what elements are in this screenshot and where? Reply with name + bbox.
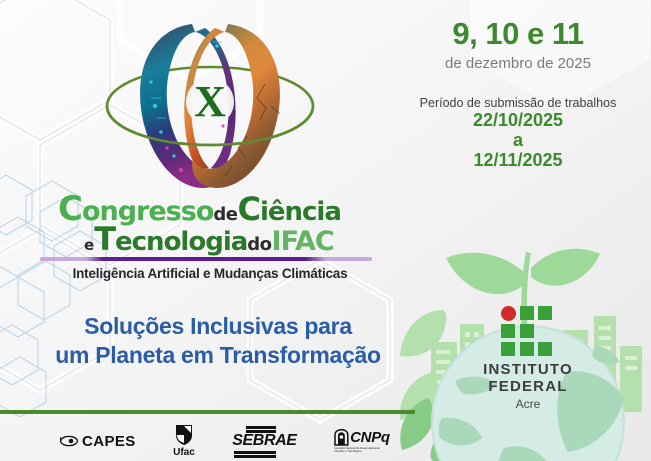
title-word-congresso-initial: C [58, 189, 82, 229]
if-logo-red-dot [501, 306, 516, 321]
if-logo-cell [520, 324, 534, 338]
if-logo-cell [538, 342, 552, 356]
sponsor-label-capes: CAPES [82, 433, 136, 450]
title-line-2: eTecnologiadoIFAC [58, 223, 388, 255]
if-campus-name: Acre [468, 397, 588, 411]
title-word-do: do [247, 234, 271, 255]
congress-title: CCongressoongressodeCiência eTecnologiad… [58, 192, 388, 255]
sponsor-logo-sebrae: SEBRAE [232, 432, 296, 450]
sponsor-sublabel-cnpq: Conselho Nacional de Desenvolvimento Cie… [334, 447, 390, 454]
if-logo-cell [538, 306, 552, 320]
sponsor-logo-row: CAPES Ufac SEBRAE [60, 424, 390, 458]
if-name-line-2: FEDERAL [468, 379, 588, 396]
sponsor-logo-capes: CAPES [60, 433, 136, 450]
event-days: 9, 10 e 11 [392, 18, 644, 51]
submission-start-date: 22/10/2025 [392, 110, 644, 130]
cnpq-emblem-icon [334, 429, 349, 446]
submission-end-date: 12/11/2025 [392, 150, 644, 170]
sponsor-logo-cnpq: CNPq Conselho Nacional de Desenvolviment… [334, 429, 390, 454]
sponsor-logo-ufac: Ufac [173, 424, 195, 458]
if-logo-cell [501, 342, 515, 356]
capes-eye-icon [60, 434, 80, 448]
green-divider [0, 410, 415, 414]
congress-subtitle: Inteligência Artificial e Mudanças Climá… [40, 266, 380, 281]
title-word-tecnologia-rest: ecnologia [115, 227, 247, 257]
sponsor-label-cnpq: CNPq [350, 429, 390, 446]
slogan-line-2: um Planeta em Transformação [18, 341, 418, 370]
purple-divider [40, 257, 372, 261]
edition-numeral: X [194, 77, 226, 126]
submission-connector: a [392, 130, 644, 150]
title-word-de: de [213, 204, 237, 225]
if-logo-cell [520, 342, 534, 356]
event-poster: X CCongressoongressodeCiência eTecnologi… [0, 0, 651, 461]
if-logo-mark [501, 306, 556, 356]
sponsor-label-sebrae: SEBRAE [232, 432, 296, 450]
if-name-line-1: INSTITUTO [468, 362, 588, 379]
submission-period-label: Período de submissão de trabalhos [392, 96, 644, 110]
title-word-ifac: IFAC [272, 226, 334, 257]
title-word-tecnologia-initial: T [94, 220, 115, 258]
event-month-year: de dezembro de 2025 [392, 55, 644, 72]
if-logo-cell [501, 324, 515, 338]
slogan-line-1: Soluções Inclusivas para [18, 312, 418, 341]
title-word-e: e [84, 236, 94, 254]
if-logo-cell [520, 306, 534, 320]
instituto-federal-logo: INSTITUTO FEDERAL Acre [468, 306, 588, 411]
atom-ribbon-logo: X [95, 6, 325, 206]
event-slogan: Soluções Inclusivas para um Planeta em T… [18, 312, 418, 371]
ufac-shield-icon [174, 424, 194, 446]
dates-panel: 9, 10 e 11 de dezembro de 2025 Período d… [392, 18, 644, 170]
sponsor-sublabel-ufac: Ufac [173, 447, 195, 458]
